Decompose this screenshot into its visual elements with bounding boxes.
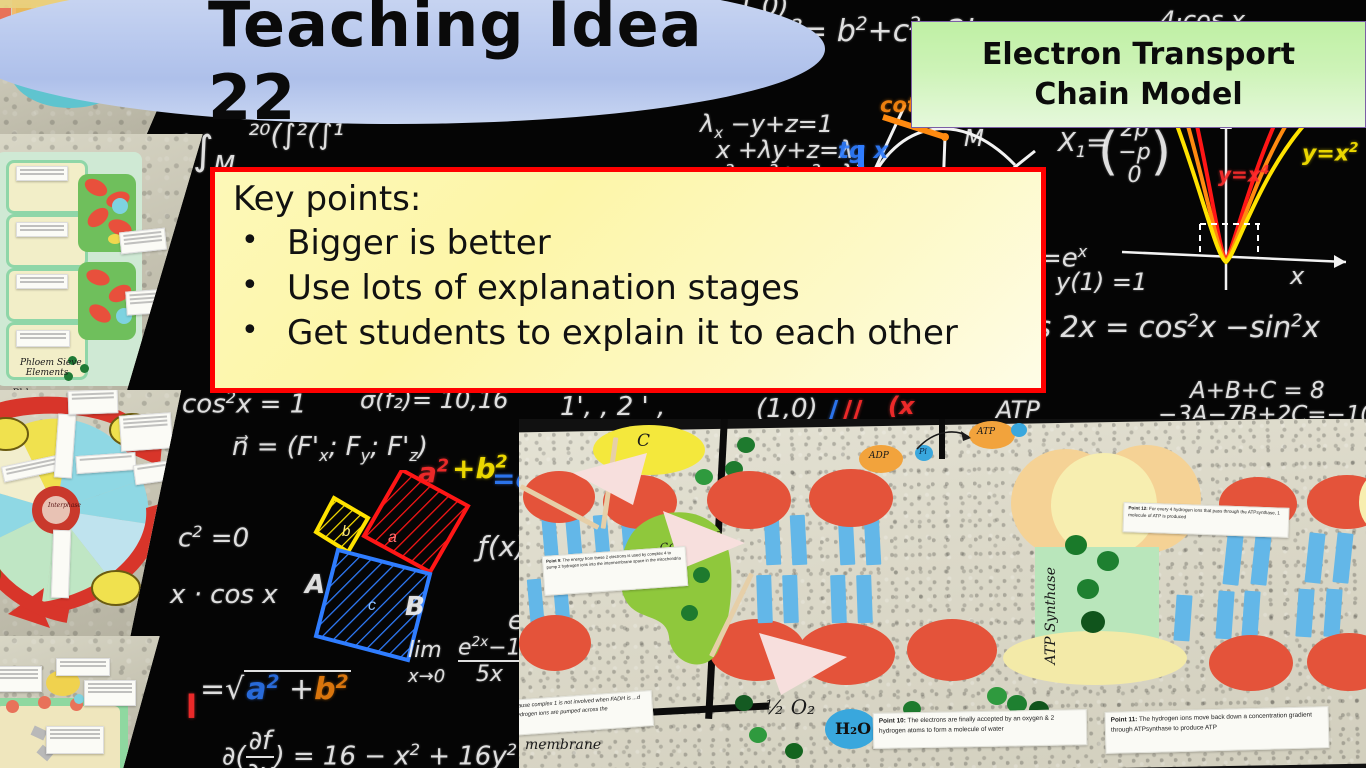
bullet-icon: • [231, 271, 287, 302]
photo-phloem-model: Phloem Sieve Elements Phloem [0, 134, 207, 396]
chalk-y-eq-x4: y=x4 [1218, 162, 1269, 187]
point-12-label: Point 12: [1128, 505, 1148, 511]
chalk-normal-vector: n⃗ = (F'x; Fy; F'z) [232, 432, 428, 465]
h2o-label: H₂O [835, 719, 871, 738]
chalk-point-A: A [305, 570, 325, 600]
photo-cell-cycle-wheel: Interphase [0, 390, 207, 640]
chalk-y-eq-x2: y=x2 [1302, 140, 1358, 166]
slide-canvas: (1 1 -1 0) ²= b2+c2−2bc·cos 4·cos x 1.0 … [0, 0, 1366, 768]
key-points-list: • Bigger is better • Use lots of explana… [231, 226, 1025, 351]
point-fadh-text: ...ause complex 1 is not involved when F… [519, 695, 640, 719]
chalk-tgx: tg x [838, 138, 888, 164]
point-12-text: For every 4 hydrogen ions that pass thro… [1128, 506, 1280, 519]
chalk-y1-eq-1: y(1) =1 [1056, 268, 1147, 296]
complex-c-label: C [637, 431, 650, 451]
subtitle-box: Electron Transport Chain Model [911, 21, 1366, 128]
svg-text:a: a [388, 529, 397, 546]
phloem-handwritten-label: Phloem Sieve Elements [20, 358, 82, 378]
key-points-box: Key points: • Bigger is better • Use lot… [210, 167, 1046, 393]
point-card-11: Point 11: The hydrogen ions move back do… [1104, 706, 1329, 754]
page-title: Teaching Idea 22 [208, 12, 778, 110]
photo-plant-defence-model [0, 636, 207, 768]
key-point-text: Get students to explain it to each other [287, 316, 958, 351]
point-9-label: Point 9: [546, 558, 562, 564]
key-point-text: Bigger is better [287, 226, 551, 261]
list-item: • Use lots of explanation stages [231, 271, 1025, 306]
chalk-sqrt-expr: =√a2 +b2 [200, 672, 351, 707]
half-o2-label: ½ O₂ [765, 695, 815, 719]
bullet-icon: • [231, 316, 287, 347]
subtitle-line-1: Electron Transport [982, 35, 1295, 75]
bullet-icon: • [231, 226, 287, 257]
chalk-point-B: B [405, 592, 425, 622]
atp-synthase-label: ATP Synthase [1043, 567, 1059, 665]
adp-label: ADP [869, 451, 889, 461]
point-11-label: Point 11: [1111, 716, 1138, 724]
svg-text:b: b [342, 523, 350, 540]
chalk-lx-frag: (x [888, 392, 914, 420]
list-item: • Get students to explain it to each oth… [231, 316, 1025, 351]
chalk-limit-label: limx→0 [408, 638, 445, 688]
chalk-frag-mid-1: 1', , 2 ' , [560, 392, 665, 422]
wheel-center-label: Interphase [48, 502, 81, 509]
chalk-M: M [964, 126, 984, 152]
key-point-text: Use lots of explanation stages [287, 271, 800, 306]
point-card-10: Point 10: The electrons are finally acce… [873, 709, 1088, 749]
point-card-12: Point 12: For every 4 hydrogen ions that… [1123, 502, 1290, 538]
point-10-label: Point 10: [879, 717, 906, 724]
chalk-abc-sum: A+B+C = 8 [1190, 378, 1325, 404]
point-10-text: The electrons are finally accepted by an… [879, 715, 1054, 735]
chalk-double-angle: s 2x = cos2x −sin2x [1036, 310, 1320, 344]
photo-electron-transport-chain-model: C Complex 2 H₂O ½ O₂ ADP [519, 419, 1366, 768]
key-points-heading: Key points: [233, 182, 1025, 216]
subtitle-line-2: Chain Model [1034, 75, 1242, 115]
side-photo-strip: GAUAAGAAAAACCGT [0, 0, 205, 768]
list-item: • Bigger is better [231, 226, 1025, 261]
svg-text:c: c [368, 597, 376, 614]
membrane-handwriting: membrane [525, 737, 601, 753]
atp-label: ATP [977, 427, 995, 437]
chalk-axis-x: x [1290, 262, 1304, 290]
chalk-limit-expr: e2x−15x [458, 634, 521, 687]
point-11-text: The hydrogen ions move back down a conce… [1111, 712, 1312, 735]
